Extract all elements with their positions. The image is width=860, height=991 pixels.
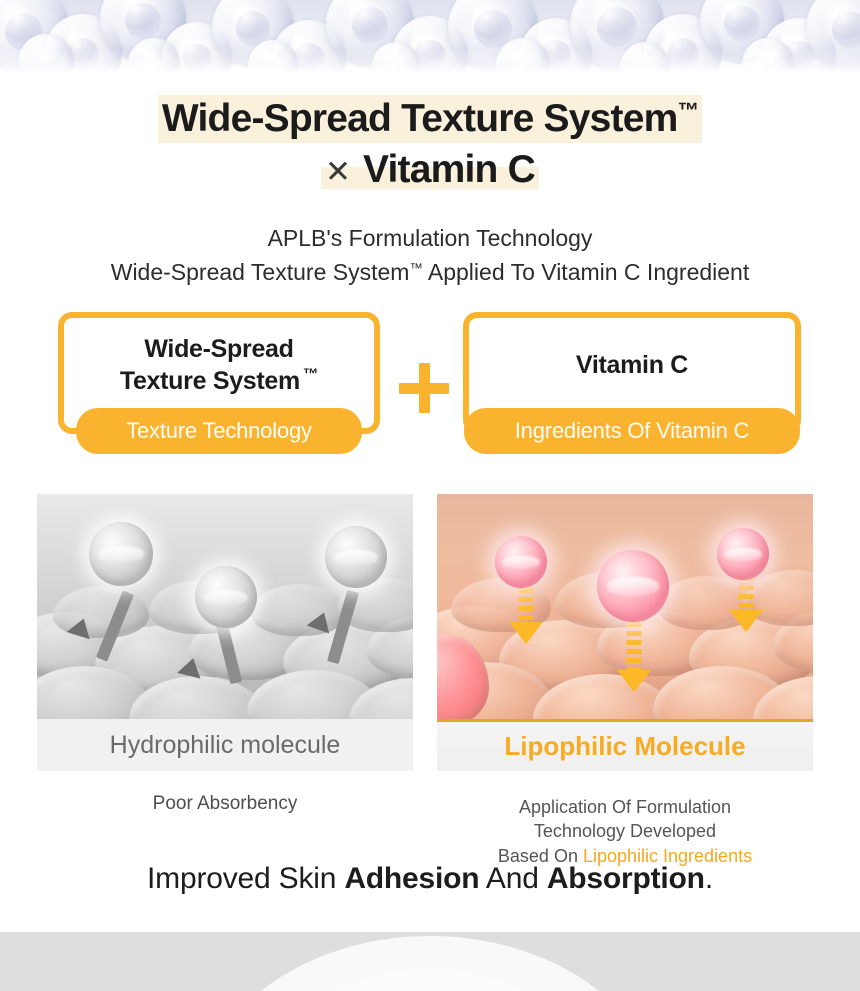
molecule-sphere xyxy=(717,528,769,580)
trademark-icon: ™ xyxy=(300,366,318,383)
card-texture-technology-title: Wide-Spread Texture System™ xyxy=(112,333,326,413)
absorb-arrow-icon xyxy=(617,622,651,700)
page-title-vitamin-c: Vitamin C xyxy=(363,148,535,191)
grey-skin-surface-illustration xyxy=(37,494,413,719)
subtitle-line-2-before: Wide-Spread Texture System xyxy=(111,259,410,285)
trademark-icon: ™ xyxy=(677,99,698,123)
page-title: Wide-Spread Texture System™ ✕Vitamin C xyxy=(0,96,860,192)
molecule-sphere xyxy=(89,522,153,586)
closing-part-2: And xyxy=(479,862,546,895)
hero-bubble-banner xyxy=(0,0,860,78)
white-dome-shape xyxy=(195,936,665,991)
panel-lipophilic: Lipophilic Molecule Application Of Formu… xyxy=(437,494,813,868)
subtitle-block: APLB's Formulation Technology Wide-Sprea… xyxy=(0,222,860,289)
molecule-sphere xyxy=(195,566,257,628)
card-title-line-2: Texture System xyxy=(120,367,300,395)
card-texture-technology-pill: Texture Technology xyxy=(76,408,362,454)
molecule-sphere xyxy=(495,536,547,588)
panel-hydrophilic-note: Poor Absorbency xyxy=(37,791,413,817)
cross-icon: ✕ xyxy=(325,154,363,189)
molecule-sphere xyxy=(325,526,387,588)
footer-strip xyxy=(0,932,860,991)
formula-cards-row: Wide-Spread Texture System™ Texture Tech… xyxy=(0,312,860,477)
page-title-line-2: ✕Vitamin C xyxy=(0,147,860,192)
page-title-text: Wide-Spread Texture System xyxy=(162,97,678,140)
page-title-line-1: Wide-Spread Texture System™ xyxy=(0,96,860,141)
subtitle-line-1: APLB's Formulation Technology xyxy=(0,222,860,256)
panel-hydrophilic: Hydrophilic molecule Poor Absorbency xyxy=(37,494,413,817)
panel-lipophilic-caption: Lipophilic Molecule xyxy=(437,719,813,771)
panel-lipophilic-note-line-1: Application Of Formulation xyxy=(519,797,731,817)
comparison-panels: Hydrophilic molecule Poor Absorbency xyxy=(0,494,860,774)
absorb-arrow-icon xyxy=(729,576,763,638)
plus-icon xyxy=(399,363,449,413)
absorb-arrow-icon xyxy=(509,588,543,650)
subtitle-line-2-after: Applied To Vitamin C Ingredient xyxy=(423,259,749,285)
panel-lipophilic-note-line-2: Technology Developed xyxy=(534,821,716,841)
closing-bold-adhesion: Adhesion xyxy=(344,862,479,895)
peach-skin-surface-illustration xyxy=(437,494,813,719)
closing-headline: Improved Skin Adhesion And Absorption. xyxy=(0,862,860,896)
trademark-icon: ™ xyxy=(409,260,422,275)
panel-lipophilic-note: Application Of Formulation Technology De… xyxy=(437,795,813,868)
subtitle-line-2: Wide-Spread Texture System™ Applied To V… xyxy=(0,256,860,290)
card-vitamin-c[interactable]: Vitamin C Ingredients Of Vitamin C xyxy=(463,312,801,475)
panel-hydrophilic-caption: Hydrophilic molecule xyxy=(37,719,413,771)
closing-part-1: Improved Skin xyxy=(147,862,344,895)
card-vitamin-c-title: Vitamin C xyxy=(568,349,696,397)
card-vitamin-c-pill: Ingredients Of Vitamin C xyxy=(464,408,800,454)
molecule-sphere xyxy=(597,550,669,622)
closing-bold-absorption: Absorption xyxy=(547,862,705,895)
closing-part-3: . xyxy=(705,862,713,895)
card-texture-technology[interactable]: Wide-Spread Texture System™ Texture Tech… xyxy=(58,312,380,475)
card-title-line-1: Wide-Spread xyxy=(144,335,293,363)
hero-fade-overlay xyxy=(0,48,860,78)
